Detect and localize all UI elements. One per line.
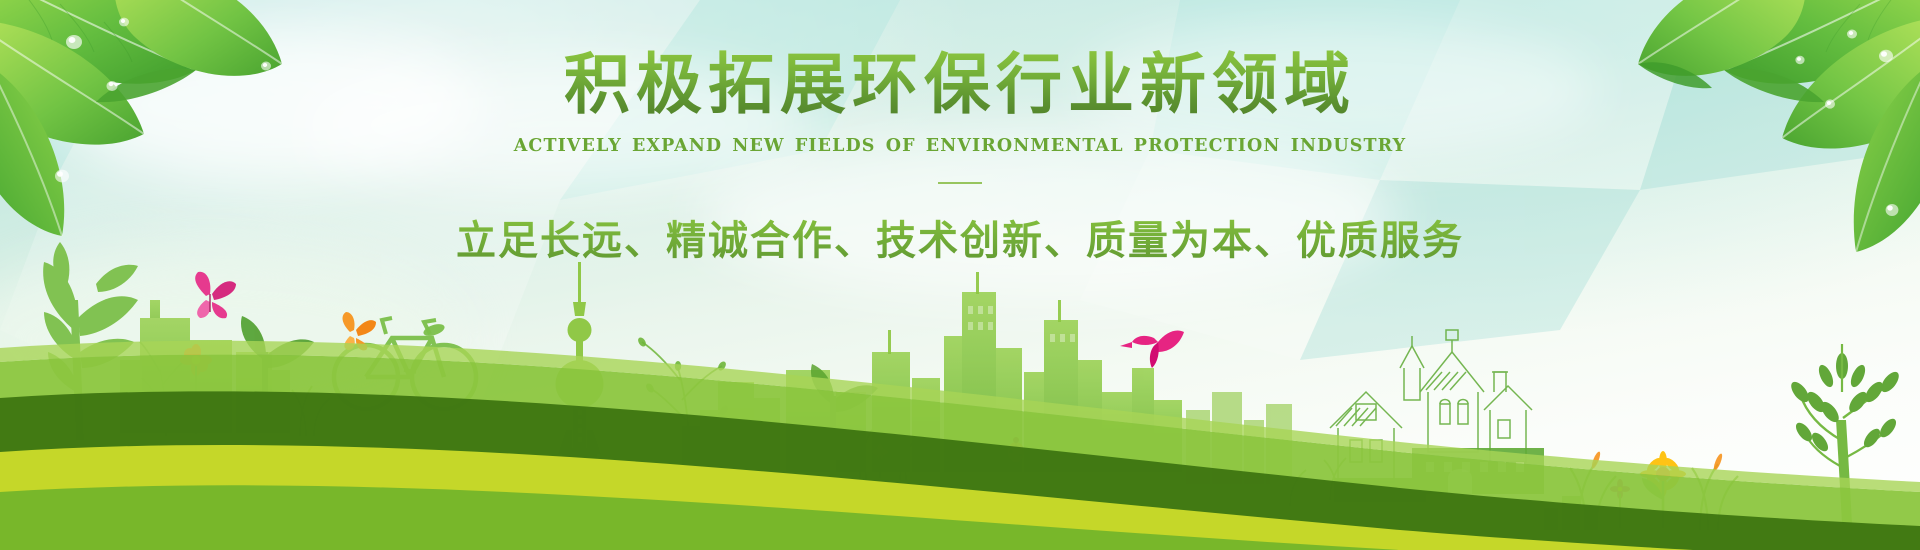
grass-tuft (1290, 458, 1346, 506)
house-solid-base (1334, 448, 1544, 502)
butterfly-orange (343, 312, 376, 350)
wave-bands (0, 341, 1920, 550)
right-shrubs (1544, 496, 1598, 530)
dewdrop (1847, 30, 1857, 39)
butterfly-pink (195, 272, 236, 319)
bicycle-seat (422, 322, 446, 338)
orange-flower (180, 344, 212, 434)
slogan-text: 立足长远、精诚合作、技术创新、质量为本、优质服务 (0, 208, 1920, 266)
hummingbird-icon (1120, 330, 1184, 368)
tiny-flower (830, 435, 851, 456)
cattail-grass (1570, 462, 1738, 530)
right-tree (1788, 344, 1902, 524)
skyline-windows (968, 306, 1075, 342)
wave-band-mid-green (0, 485, 1920, 550)
left-seedling (241, 316, 314, 414)
wispy-plant-mid (642, 342, 724, 470)
divider (938, 182, 982, 184)
sunflower (1640, 451, 1686, 528)
subtitle-english: ACTIVELY EXPAND NEW FIELDS OF ENVIRONMEN… (0, 136, 1920, 156)
banner-text-block: 积极拓展环保行业新领域 ACTIVELY EXPAND NEW FIELDS O… (0, 48, 1920, 266)
eco-banner: 积极拓展环保行业新领域 ACTIVELY EXPAND NEW FIELDS O… (0, 0, 1920, 550)
wave-band-lime (0, 445, 1920, 550)
grass-tuft (852, 430, 916, 480)
line-art-houses (1330, 330, 1532, 482)
left-city-blocks (120, 300, 290, 433)
city-antennas (888, 272, 1061, 354)
tower-window-dots (578, 410, 582, 442)
house-arch (1448, 469, 1472, 502)
ladybug-icon (1008, 437, 1024, 462)
oriental-pearl-tower (556, 262, 604, 466)
house-base-windows (1426, 462, 1524, 472)
small-pink-flower (1610, 479, 1630, 528)
wispy-plant-buds (637, 336, 730, 416)
wispy-plant-left (140, 342, 188, 436)
dewdrop (66, 35, 82, 49)
page-title: 积极拓展环保行业新领域 (0, 48, 1920, 122)
cattail-heads (1590, 451, 1724, 472)
city-skyline-center (682, 292, 1182, 472)
grass-tuft (292, 386, 330, 436)
wave-band-dark-green (0, 391, 1920, 550)
dewdrop (119, 18, 129, 27)
wave-band-light-green (0, 355, 1920, 550)
right-city-blocks (1186, 392, 1292, 484)
wave-band-top-accent (0, 341, 1920, 492)
city-seedling (811, 364, 878, 460)
mist-cloud (0, 250, 460, 430)
left-sapling (43, 242, 138, 440)
small-flowers (872, 444, 888, 478)
bicycle (334, 318, 476, 409)
